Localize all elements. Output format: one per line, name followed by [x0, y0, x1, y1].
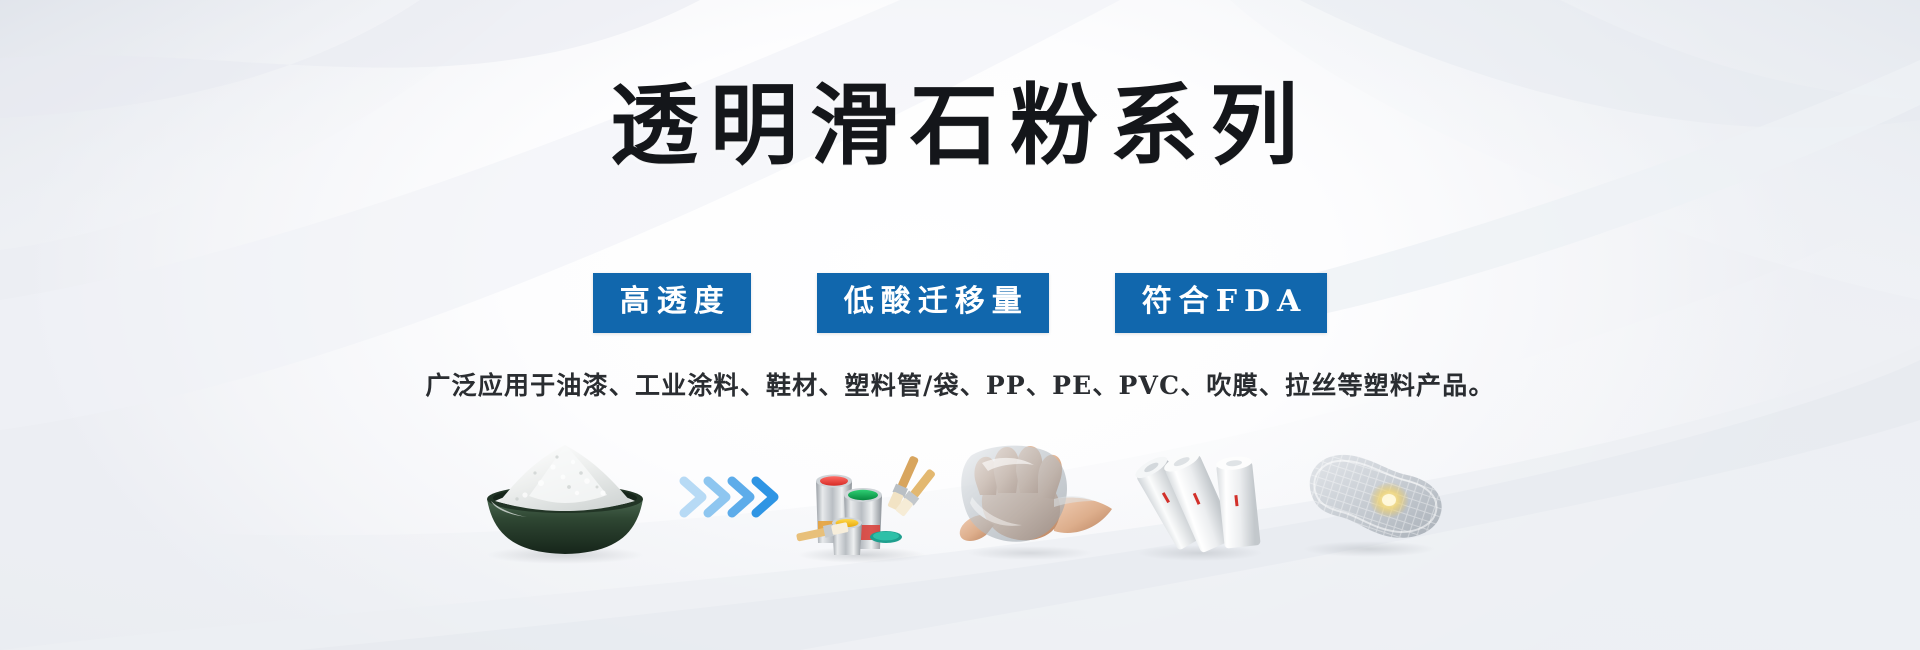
application-image-strip	[0, 432, 1920, 562]
shoe-sole-insole-image	[1280, 432, 1460, 562]
process-arrow-icon	[670, 432, 790, 562]
badge-low-acid-migration[interactable]: 低酸迁移量	[817, 273, 1049, 333]
talc-powder-bowl-image	[460, 432, 670, 562]
gloved-hand-film-image	[940, 432, 1120, 562]
chevron-right-icon	[678, 473, 782, 521]
banner-title: 透明滑石粉系列	[0, 78, 1920, 173]
plastic-film-rolls-image	[1120, 432, 1280, 562]
product-banner: 透明滑石粉系列 高透度 低酸迁移量 符合FDA 广泛应用于油漆、工业涂料、鞋材、…	[0, 0, 1920, 650]
feature-badge-group: 高透度 低酸迁移量 符合FDA	[0, 273, 1920, 333]
banner-subtitle: 广泛应用于油漆、工业涂料、鞋材、塑料管/袋、PP、PE、PVC、吹膜、拉丝等塑料…	[0, 366, 1920, 402]
paint-cans-brushes-image	[790, 432, 940, 562]
badge-high-transparency[interactable]: 高透度	[593, 273, 751, 333]
badge-fda-compliant[interactable]: 符合FDA	[1115, 273, 1328, 333]
